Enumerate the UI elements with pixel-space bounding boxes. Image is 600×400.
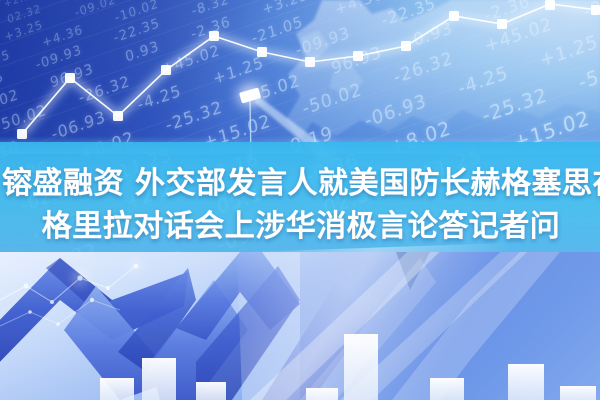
headline-line-2: 格里拉对话会上涉华消极言论答记者问 <box>0 205 600 248</box>
headline-line-1: 镕盛融资 外交部发言人就美国防长赫格塞思在香 <box>0 162 600 205</box>
bottom-sheen <box>237 238 600 400</box>
headline-block: 镕盛融资 外交部发言人就美国防长赫格塞思在香 格里拉对话会上涉华消极言论答记者问 <box>0 162 600 248</box>
news-banner-image: -09.02-02.36-11.25+15.02-50.02-26.32+45.… <box>0 0 600 400</box>
